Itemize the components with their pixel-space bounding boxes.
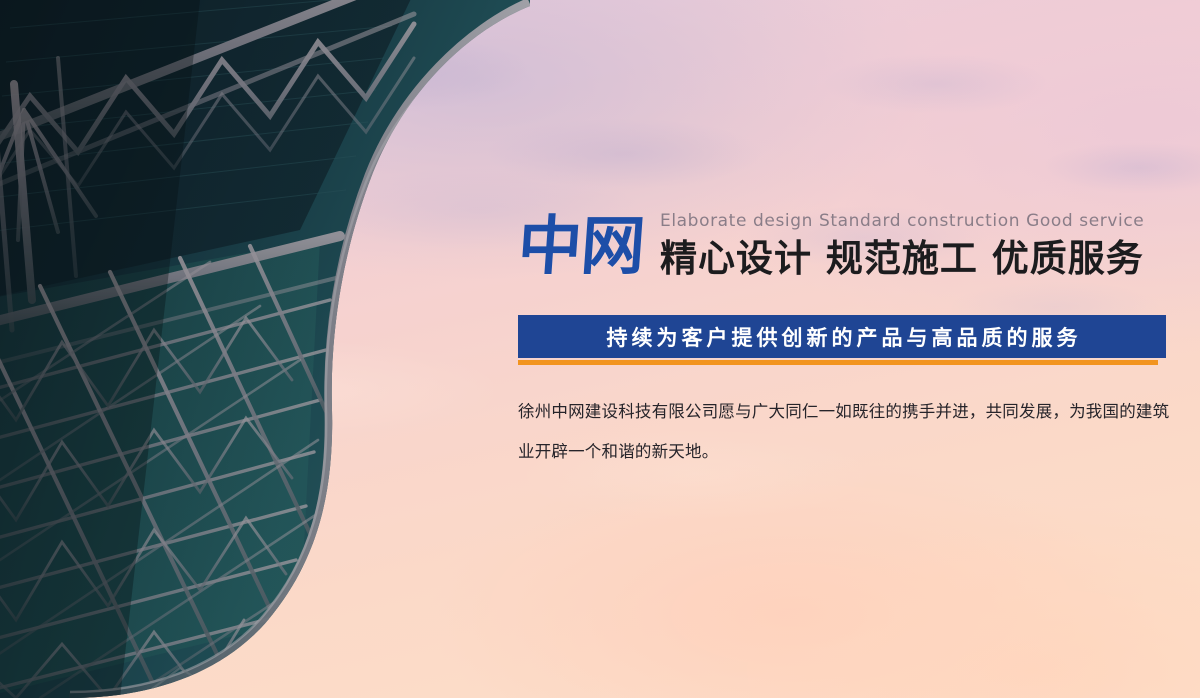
tagline-english: Elaborate design Standard construction G… (660, 213, 1144, 230)
slogan-ribbon-bar: 持续为客户提供创新的产品与高品质的服务 (518, 315, 1166, 358)
slogan-underline-accent (518, 360, 1158, 365)
brand-logo: 中网 (516, 215, 646, 279)
tagline-chinese: 精心设计 规范施工 优质服务 (660, 240, 1144, 277)
hero-banner: 中网 Elaborate design Standard constructio… (0, 0, 1200, 698)
company-description: 徐州中网建设科技有限公司愿与广大同仁一如既往的携手并进，共同发展，为我国的建筑业… (518, 392, 1178, 472)
headline-row: 中网 Elaborate design Standard constructio… (518, 213, 1144, 279)
banner-content: 中网 Elaborate design Standard constructio… (518, 0, 1178, 698)
slogan-text: 持续为客户提供创新的产品与高品质的服务 (603, 322, 1082, 352)
slogan-ribbon: 持续为客户提供创新的产品与高品质的服务 (518, 315, 1166, 365)
headline-text-group: Elaborate design Standard construction G… (660, 213, 1144, 279)
